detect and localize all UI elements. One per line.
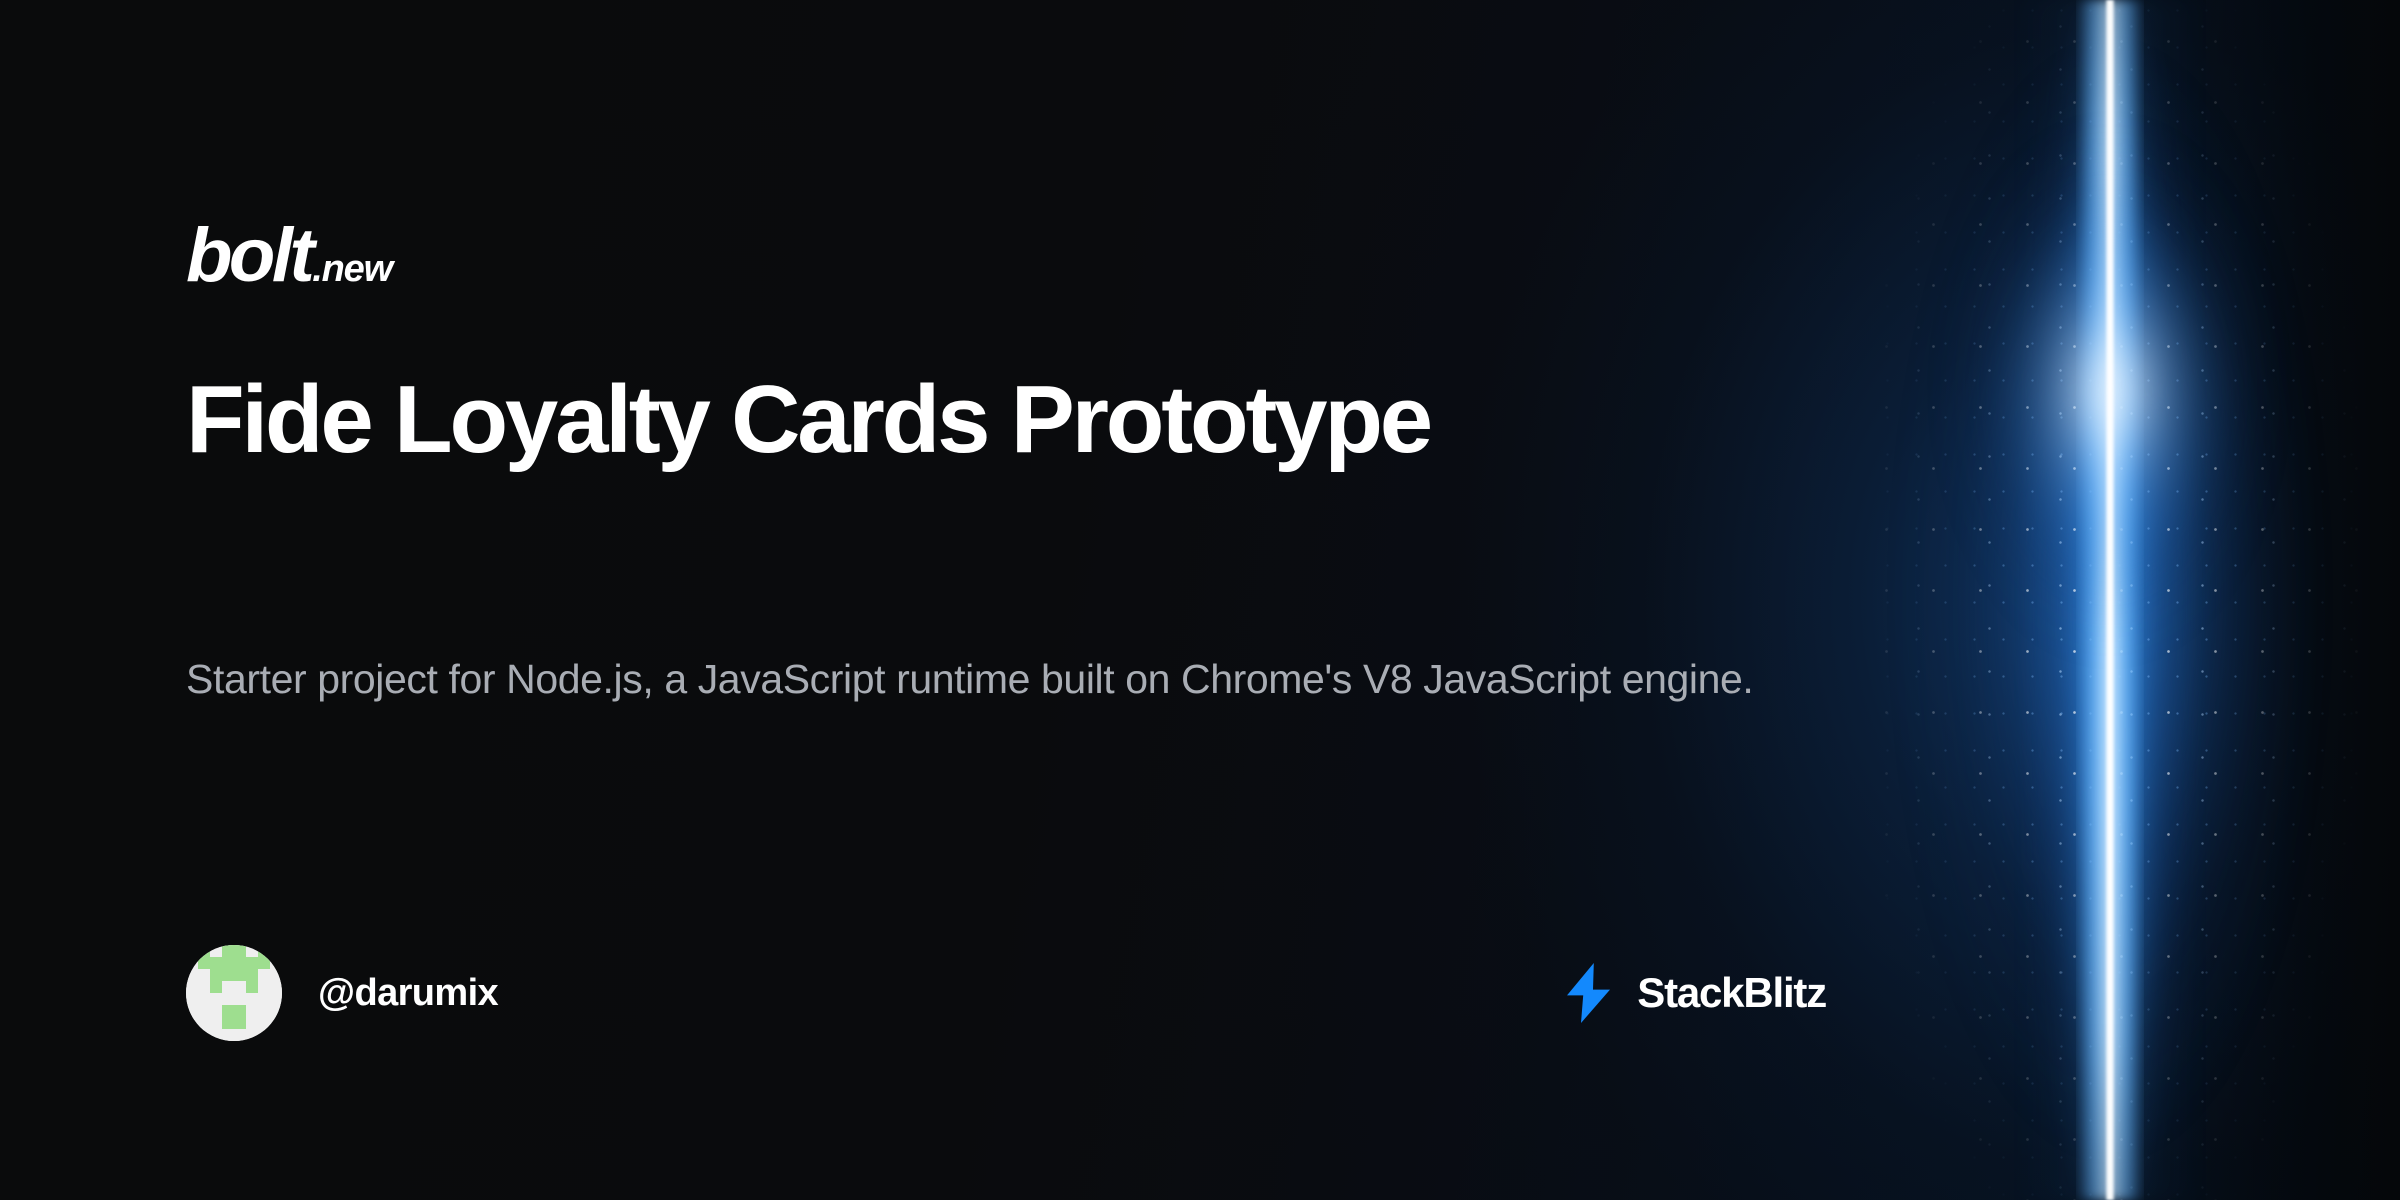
stackblitz-label: StackBlitz bbox=[1637, 969, 1826, 1017]
powered-by-stackblitz[interactable]: StackBlitz bbox=[1567, 963, 1826, 1023]
avatar bbox=[186, 945, 282, 1041]
page-title: Fide Loyalty Cards Prototype bbox=[186, 366, 1866, 475]
project-description: Starter project for Node.js, a JavaScrip… bbox=[186, 652, 1826, 706]
author-handle: @darumix bbox=[318, 972, 498, 1015]
card-footer: @darumix StackBlitz bbox=[186, 945, 1826, 1041]
lightning-bolt-icon bbox=[1567, 963, 1611, 1023]
author-block[interactable]: @darumix bbox=[186, 945, 498, 1041]
identicon-avatar-icon bbox=[186, 945, 282, 1041]
og-card: bolt .new Fide Loyalty Cards Prototype S… bbox=[0, 0, 2400, 1200]
bolt-new-logo[interactable]: bolt .new bbox=[186, 218, 392, 294]
bolt-wordmark: bolt bbox=[186, 218, 311, 294]
new-suffix: .new bbox=[312, 250, 392, 288]
card-content: bolt .new Fide Loyalty Cards Prototype S… bbox=[186, 0, 2400, 1200]
